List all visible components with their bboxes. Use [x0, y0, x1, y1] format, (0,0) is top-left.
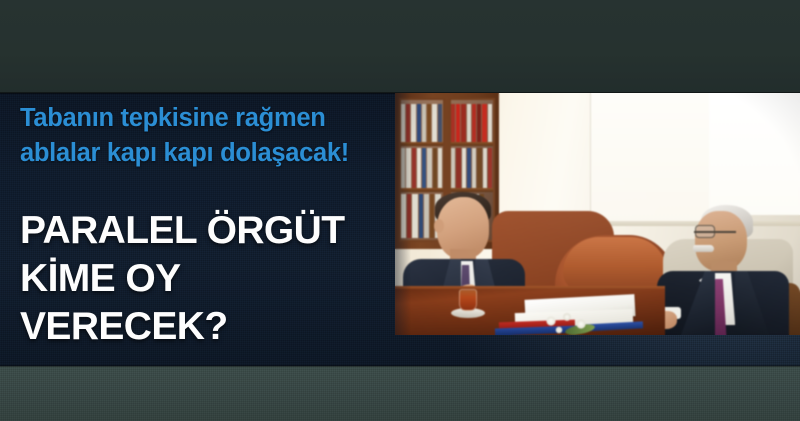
- background-band-bottom: [0, 366, 800, 421]
- right-subject-mustache: [693, 245, 714, 252]
- kicker-line-1: Tabanın tepkisine rağmen: [20, 104, 326, 132]
- headline-text-block: Tabanın tepkisine rağmen ablalar kapı ka…: [20, 93, 392, 351]
- kicker-line-2: ablalar kapı kapı dolaşacak!: [20, 136, 392, 171]
- headline-line-2: KİME OY VERECEK?: [20, 255, 392, 351]
- kicker-text: Tabanın tepkisine rağmen ablalar kapı ka…: [20, 101, 392, 171]
- background-band-top: [0, 0, 800, 93]
- right-subject-eyeglasses-temple: [694, 231, 736, 233]
- headline-line-1: PARALEL ÖRGÜT: [20, 209, 344, 252]
- wall-panel-right: [709, 93, 800, 215]
- news-photo: [395, 93, 800, 335]
- news-banner: Tabanın tepkisine rağmen ablalar kapı ka…: [0, 0, 800, 421]
- wall-panel-left: [591, 93, 709, 225]
- white-flowers: [541, 311, 595, 335]
- left-subject-ear: [434, 219, 444, 233]
- headline-text: PARALEL ÖRGÜT KİME OY VERECEK?: [20, 207, 392, 351]
- leather-armchair-roll: [563, 237, 667, 291]
- turkish-tea-glass: [459, 289, 477, 311]
- band-seam-bottom: [0, 365, 800, 367]
